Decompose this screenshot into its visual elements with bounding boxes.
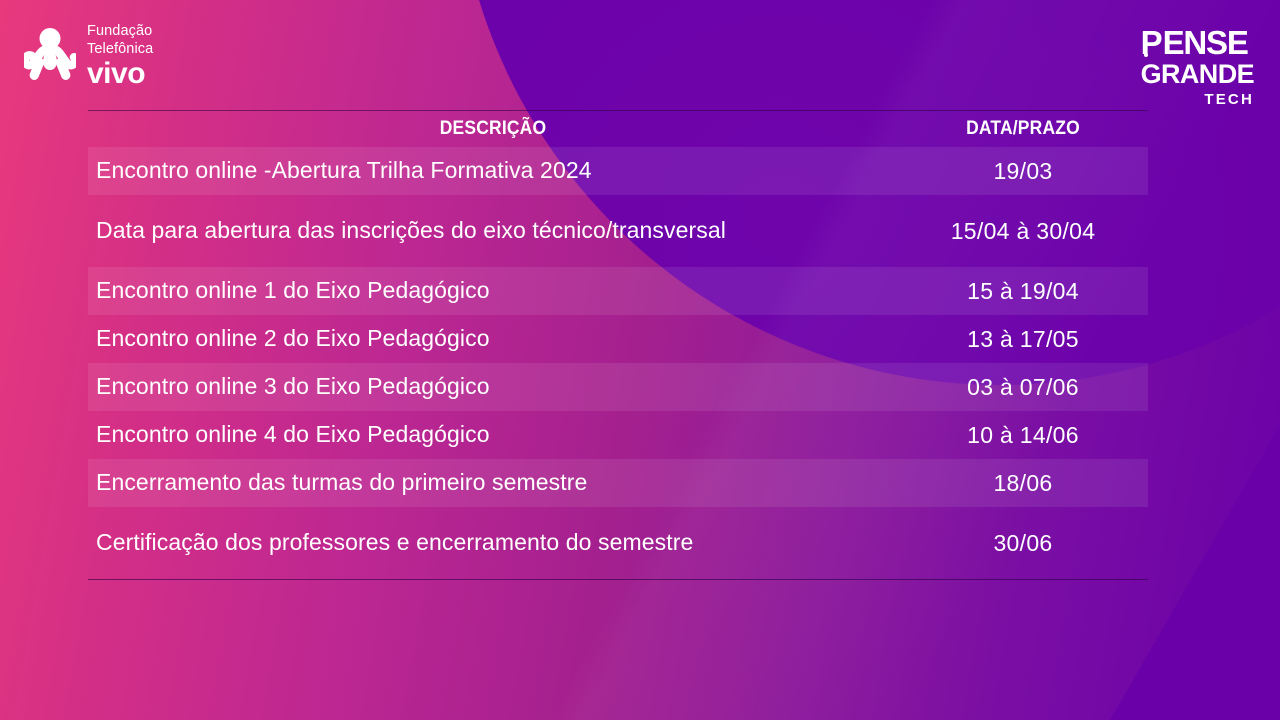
row-date: 15/04 à 30/04 bbox=[898, 218, 1148, 245]
row-description: Encontro online 3 do Eixo Pedagógico bbox=[88, 372, 898, 402]
telefonica-person-icon bbox=[24, 27, 76, 87]
row-description: Encontro online 1 do Eixo Pedagógico bbox=[88, 276, 898, 306]
logo-text-ense: ENSE bbox=[1163, 26, 1248, 59]
logo-line-grande: GRANDE bbox=[1141, 61, 1254, 88]
logo-line-fundacao: Fundação bbox=[87, 24, 153, 39]
table-row: Encontro online 2 do Eixo Pedagógico 13 … bbox=[88, 315, 1148, 363]
row-date: 03 à 07/06 bbox=[898, 374, 1148, 401]
table-row: Data para abertura das inscrições do eix… bbox=[88, 195, 1148, 267]
row-date: 30/06 bbox=[898, 530, 1148, 557]
logo-line-tech: TECH bbox=[1141, 92, 1254, 107]
row-description: Encontro online 2 do Eixo Pedagógico bbox=[88, 324, 898, 354]
table-row: Encontro online 3 do Eixo Pedagógico 03 … bbox=[88, 363, 1148, 411]
table-row: Encontro online 4 do Eixo Pedagógico 10 … bbox=[88, 411, 1148, 459]
table-row: Encerramento das turmas do primeiro seme… bbox=[88, 459, 1148, 507]
row-description: Encontro online 4 do Eixo Pedagógico bbox=[88, 420, 898, 450]
table-header-row: DESCRIÇÃO DATA/PRAZO bbox=[88, 111, 1148, 147]
p-exclamation-icon: P bbox=[1141, 26, 1163, 59]
schedule-table: DESCRIÇÃO DATA/PRAZO Encontro online -Ab… bbox=[88, 110, 1148, 580]
pense-grande-tech-logo: P ENSE GRANDE TECH bbox=[1141, 26, 1254, 107]
logo-line-vivo: vivo bbox=[87, 59, 153, 89]
row-description: Certificação dos professores e encerrame… bbox=[88, 528, 898, 558]
exclamation-dot-icon bbox=[1144, 53, 1149, 58]
table-row: Encontro online 1 do Eixo Pedagógico 15 … bbox=[88, 267, 1148, 315]
fundacao-telefonica-vivo-logo: Fundação Telefônica vivo bbox=[24, 24, 153, 89]
logo-line-telefonica: Telefônica bbox=[87, 42, 153, 57]
row-date: 18/06 bbox=[898, 470, 1148, 497]
row-description: Encontro online -Abertura Trilha Formati… bbox=[88, 156, 898, 186]
column-header-data-prazo: DATA/PRAZO bbox=[908, 118, 1138, 140]
table-bottom-rule bbox=[88, 579, 1148, 580]
logo-line-pense: P ENSE bbox=[1141, 26, 1254, 59]
row-date: 19/03 bbox=[898, 158, 1148, 185]
table-row: Certificação dos professores e encerrame… bbox=[88, 507, 1148, 579]
row-description: Encerramento das turmas do primeiro seme… bbox=[88, 468, 898, 498]
table-row: Encontro online -Abertura Trilha Formati… bbox=[88, 147, 1148, 195]
column-header-descricao: DESCRIÇÃO bbox=[120, 118, 865, 140]
row-description: Data para abertura das inscrições do eix… bbox=[88, 216, 898, 246]
row-date: 13 à 17/05 bbox=[898, 326, 1148, 353]
row-date: 10 à 14/06 bbox=[898, 422, 1148, 449]
row-date: 15 à 19/04 bbox=[898, 278, 1148, 305]
